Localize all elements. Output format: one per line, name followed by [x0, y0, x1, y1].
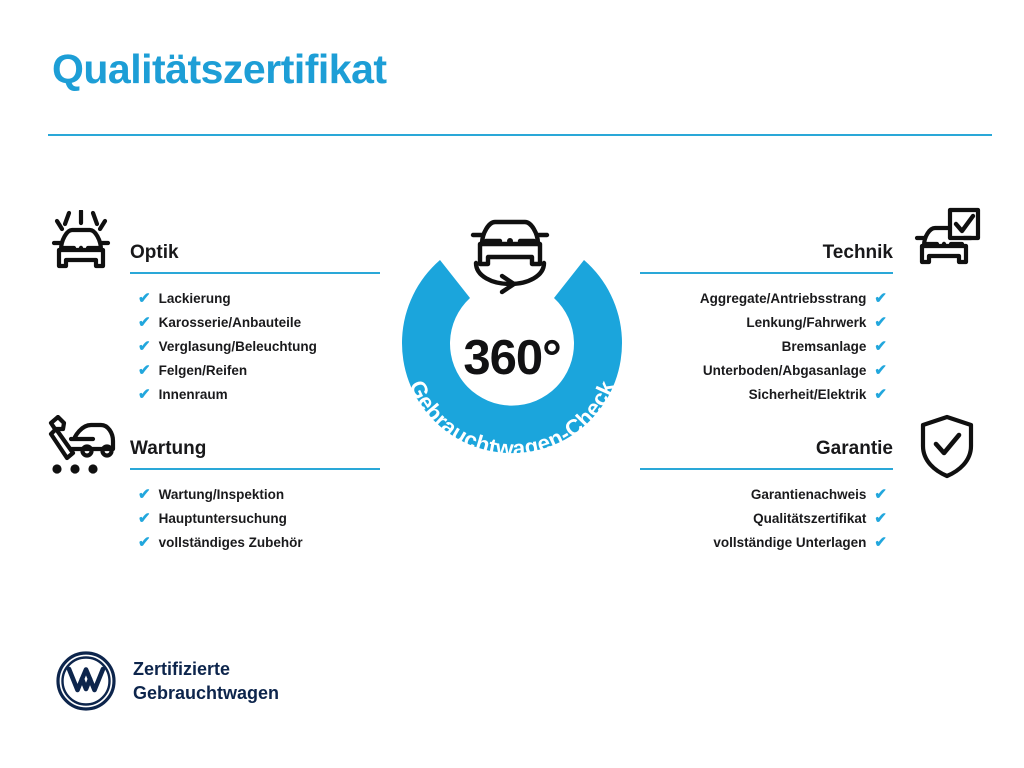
page-title: Qualitätszertifikat: [52, 47, 387, 92]
list-item: ✔ Verglasung/Beleuchtung: [130, 334, 380, 358]
list-item: ✔ Lackierung: [130, 286, 380, 310]
section-header-garantie: Garantie: [640, 436, 893, 470]
check-list-technik: ✔ Aggregate/Antriebsstrang ✔ Lenkung/Fah…: [640, 286, 893, 406]
check-icon: ✔: [874, 339, 887, 354]
car-rotate-360-icon: [473, 222, 547, 292]
list-item-label: Hauptuntersuchung: [159, 511, 287, 526]
list-item-label: Felgen/Reifen: [159, 363, 248, 378]
list-item: ✔ Bremsanlage: [640, 334, 893, 358]
list-item-label: Aggregate/Antriebsstrang: [700, 291, 867, 306]
check-list-wartung: ✔ Wartung/Inspektion ✔ Hauptuntersuchung…: [130, 482, 380, 554]
list-item: ✔ vollständiges Zubehör: [130, 530, 380, 554]
list-item: ✔ Aggregate/Antriebsstrang: [640, 286, 893, 310]
section-header-wartung: Wartung: [130, 436, 380, 470]
list-item: ✔ vollständige Unterlagen: [640, 530, 893, 554]
list-item-label: Wartung/Inspektion: [159, 487, 285, 502]
section-header-technik: Technik: [640, 240, 893, 274]
list-item-label: Sicherheit/Elektrik: [749, 387, 867, 402]
shield-check-icon: [918, 414, 976, 485]
section-technik: Technik ✔ Aggregate/Antriebsstrang ✔ Len…: [640, 240, 893, 406]
section-divider: [130, 272, 380, 274]
section-wartung: Wartung ✔ Wartung/Inspektion ✔ Hauptunte…: [130, 436, 380, 554]
section-optik: Optik ✔ Lackierung ✔ Karosserie/Anbautei…: [130, 240, 380, 406]
list-item-label: Verglasung/Beleuchtung: [159, 339, 317, 354]
section-garantie: Garantie ✔ Garantienachweis ✔ Qualitätsz…: [640, 436, 893, 554]
section-divider: [640, 468, 893, 470]
list-item-label: Garantienachweis: [751, 487, 867, 502]
check-icon: ✔: [874, 511, 887, 526]
check-list-garantie: ✔ Garantienachweis ✔ Qualitätszertifikat…: [640, 482, 893, 554]
section-divider: [640, 272, 893, 274]
check-icon: ✔: [874, 535, 887, 550]
list-item: ✔ Hauptuntersuchung: [130, 506, 380, 530]
car-checkbox-icon: [910, 206, 982, 277]
list-item-label: vollständige Unterlagen: [713, 535, 866, 550]
list-item-label: Bremsanlage: [782, 339, 867, 354]
list-item: ✔ Sicherheit/Elektrik: [640, 382, 893, 406]
check-icon: ✔: [874, 387, 887, 402]
section-title: Wartung: [130, 436, 380, 462]
list-item-label: Innenraum: [159, 387, 228, 402]
check-icon: ✔: [874, 363, 887, 378]
check-icon: ✔: [138, 315, 151, 330]
check-icon: ✔: [138, 363, 151, 378]
vw-wordmark: Zertifizierte Gebrauchtwagen: [133, 657, 279, 705]
list-item: ✔ Garantienachweis: [640, 482, 893, 506]
list-item: ✔ Lenkung/Fahrwerk: [640, 310, 893, 334]
list-item-label: vollständiges Zubehör: [159, 535, 303, 550]
vw-wordmark-line1: Zertifizierte: [133, 657, 279, 681]
check-list-optik: ✔ Lackierung ✔ Karosserie/Anbauteile ✔ V…: [130, 286, 380, 406]
list-item: ✔ Unterboden/Abgasanlage: [640, 358, 893, 382]
check-icon: ✔: [874, 487, 887, 502]
vw-logo-icon: [55, 650, 117, 717]
title-divider: [48, 134, 992, 136]
check-icon: ✔: [138, 339, 151, 354]
check-icon: ✔: [874, 315, 887, 330]
list-item-label: Lenkung/Fahrwerk: [746, 315, 866, 330]
list-item: ✔ Innenraum: [130, 382, 380, 406]
list-item: ✔ Felgen/Reifen: [130, 358, 380, 382]
list-item: ✔ Qualitätszertifikat: [640, 506, 893, 530]
list-item: ✔ Karosserie/Anbauteile: [130, 310, 380, 334]
wrench-car-service-icon: [45, 415, 119, 482]
check-icon: ✔: [138, 511, 151, 526]
section-title: Optik: [130, 240, 380, 266]
check-icon: ✔: [138, 291, 151, 306]
check-icon: ✔: [874, 291, 887, 306]
vw-wordmark-line2: Gebrauchtwagen: [133, 681, 279, 705]
list-item-label: Lackierung: [159, 291, 231, 306]
check-icon: ✔: [138, 387, 151, 402]
section-divider: [130, 468, 380, 470]
list-item-label: Karosserie/Anbauteile: [159, 315, 302, 330]
list-item: ✔ Wartung/Inspektion: [130, 482, 380, 506]
section-header-optik: Optik: [130, 240, 380, 274]
section-title: Garantie: [640, 436, 893, 462]
car-shine-icon: [45, 210, 117, 283]
section-title: Technik: [640, 240, 893, 266]
check-icon: ✔: [138, 487, 151, 502]
list-item-label: Qualitätszertifikat: [753, 511, 866, 526]
check-icon: ✔: [138, 535, 151, 550]
list-item-label: Unterboden/Abgasanlage: [703, 363, 867, 378]
badge-360-gebrauchtwagen-check: Gebrauchtwagen-Check 360°: [368, 196, 656, 496]
badge-center-label: 360°: [368, 334, 656, 383]
